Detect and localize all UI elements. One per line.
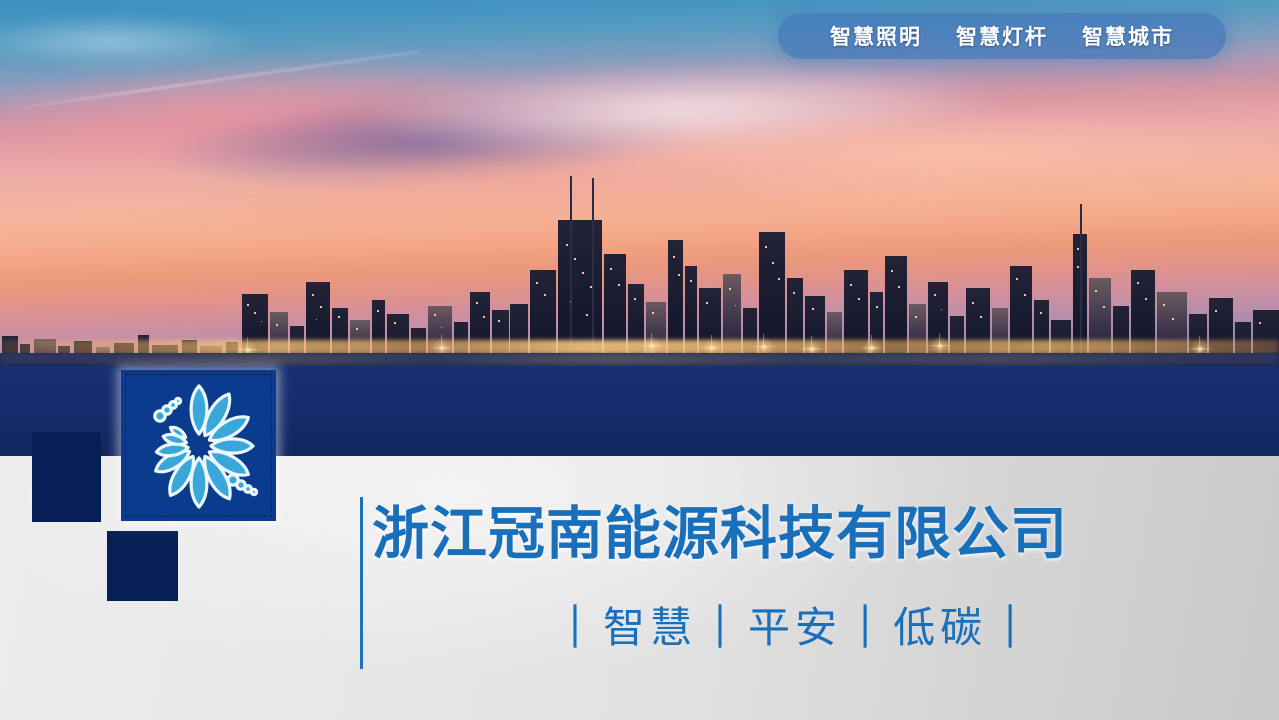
title-accent-rule: [360, 497, 363, 669]
keyword-smart-pole[interactable]: 智慧灯杆: [956, 21, 1048, 51]
tagline-bar-0: ｜: [552, 603, 603, 652]
water-reflection-glow: [0, 353, 1279, 366]
keyword-pill[interactable]: 智慧照明 智慧灯杆 智慧城市: [778, 13, 1226, 59]
tagline-word-wisdom: 智慧: [603, 603, 697, 652]
decorative-square-upper: [32, 432, 101, 522]
company-tagline: ｜智慧｜平安｜低碳｜: [552, 594, 1038, 655]
keyword-smart-lighting[interactable]: 智慧照明: [830, 21, 922, 51]
tagline-bar-2: ｜: [842, 603, 893, 652]
decorative-square-lower: [107, 531, 178, 601]
title-slide: 智慧照明 智慧灯杆 智慧城市 浙江冠南能源科技有限公司 ｜智慧｜平安｜低碳｜: [0, 0, 1279, 720]
company-name-heading: 浙江冠南能源科技有限公司: [372, 488, 1068, 570]
tagline-word-safety: 平安: [748, 603, 842, 652]
city-skyline-silhouette: [0, 176, 1279, 366]
keyword-smart-city[interactable]: 智慧城市: [1082, 21, 1174, 51]
tagline-word-lowcarbon: 低碳: [893, 603, 987, 652]
tagline-bar-1: ｜: [697, 603, 748, 652]
tagline-bar-3: ｜: [987, 603, 1038, 652]
company-logo: [121, 370, 276, 521]
spiral-petal-flower-icon: [121, 370, 276, 521]
